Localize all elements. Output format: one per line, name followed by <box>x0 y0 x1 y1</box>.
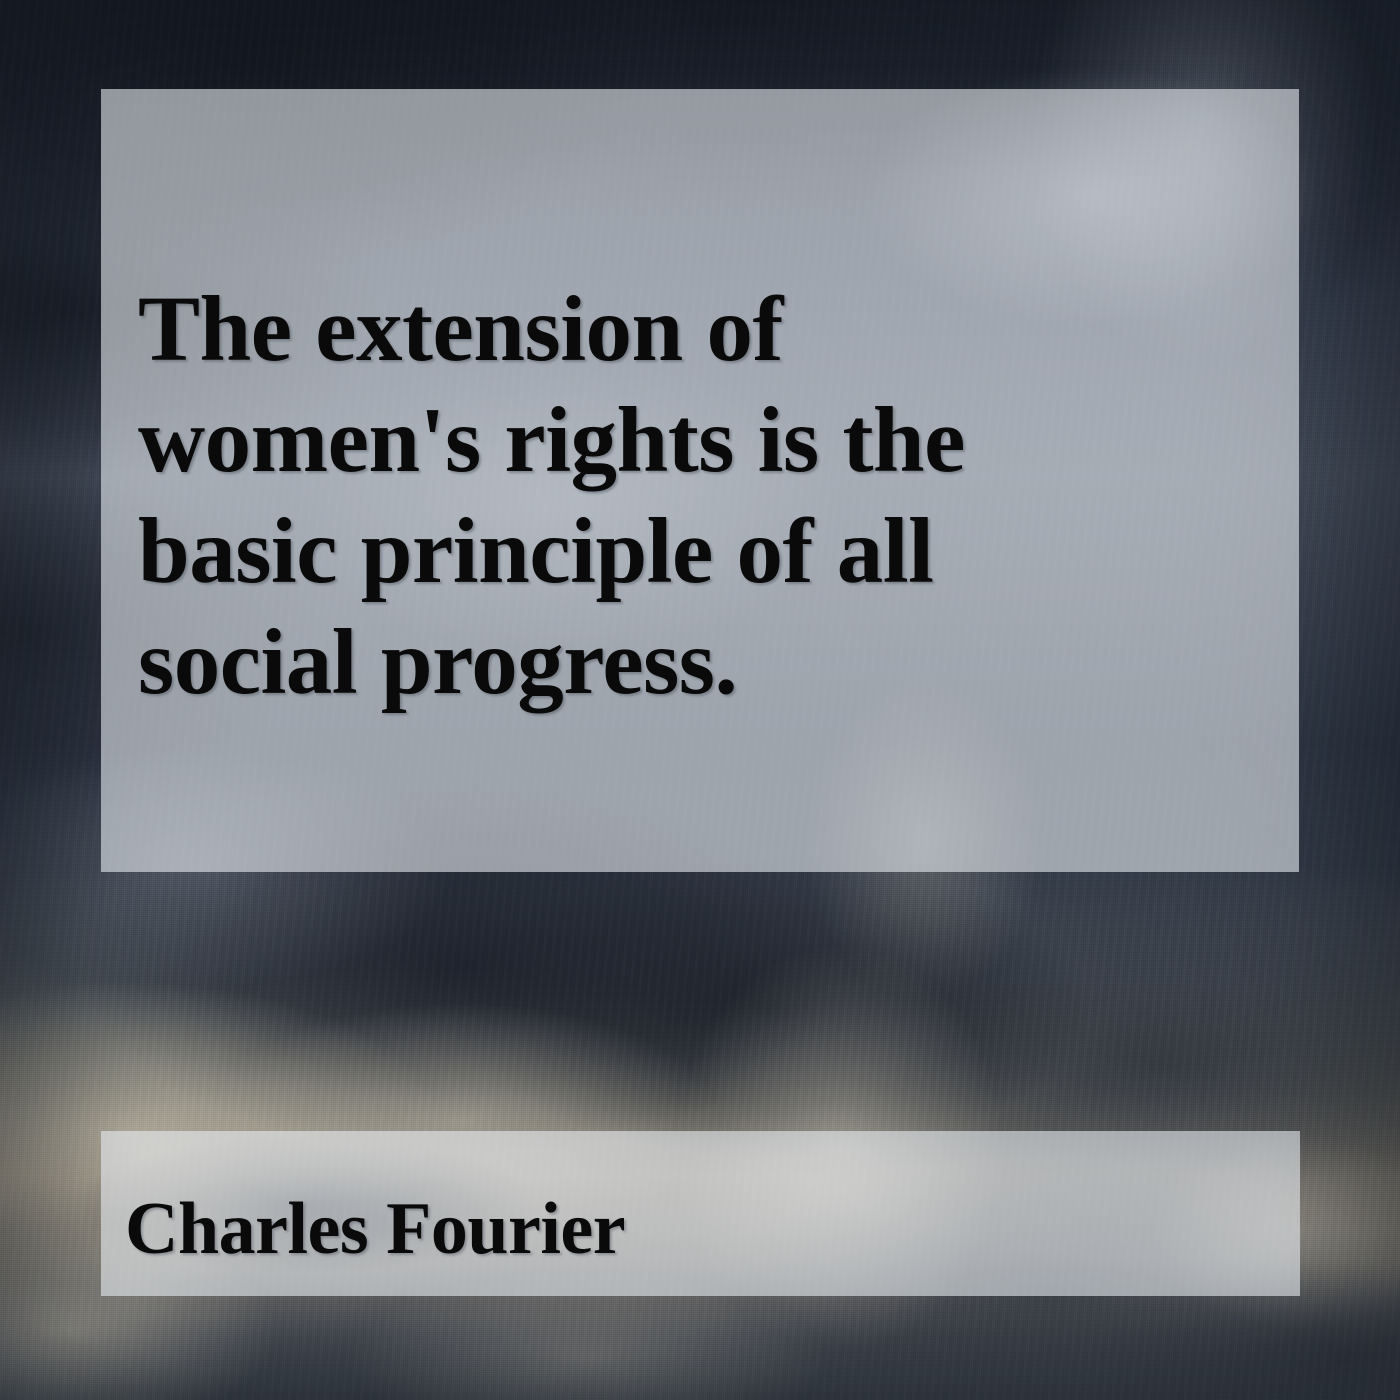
quote-text: The extension of women's rights is the b… <box>138 274 1218 718</box>
quote-image-canvas: The extension of women's rights is the b… <box>0 0 1400 1400</box>
author-name: Charles Fourier <box>125 1186 625 1272</box>
